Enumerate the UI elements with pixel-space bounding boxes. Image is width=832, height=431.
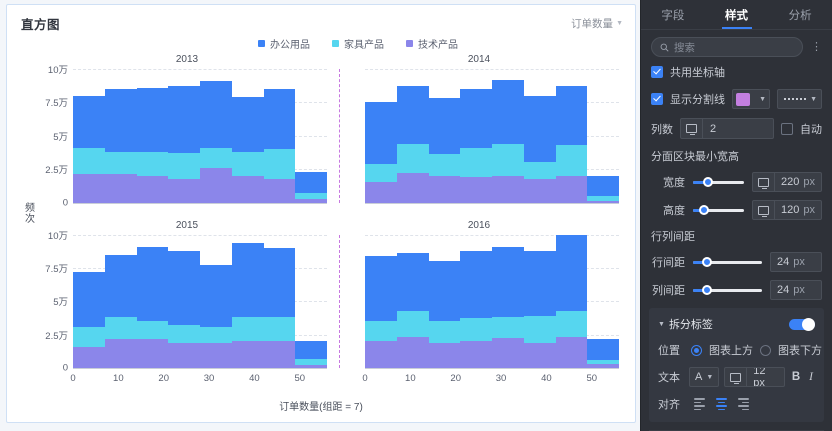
legend-swatch (258, 40, 265, 47)
split-align-label: 对齐 (658, 396, 684, 412)
more-options-icon[interactable]: ⋮ (809, 42, 824, 53)
monitor-icon[interactable] (725, 368, 747, 386)
bar[interactable] (524, 69, 556, 203)
search-placeholder: 搜索 (674, 40, 695, 55)
chevron-down-icon: ▼ (759, 96, 766, 103)
bar[interactable] (168, 69, 200, 203)
bar-segment (105, 89, 137, 152)
gridline-checkbox[interactable] (651, 93, 663, 105)
bar-segment (264, 341, 296, 368)
italic-button[interactable]: I (807, 371, 815, 383)
chart-panel: 直方图 订单数量 ▼ 办公用品家具产品技术产品 频 次 201302.5万5万7… (0, 0, 640, 431)
bar-segment (232, 243, 264, 317)
facet-title: 2013 (41, 53, 333, 67)
facet-height-input[interactable]: 120 px (752, 200, 822, 220)
row-gap-row: 行间距 24 px (651, 252, 822, 272)
y-tick-label: 2.5万 (45, 162, 68, 176)
bar-segment (264, 89, 296, 149)
gridline (73, 203, 327, 204)
y-tick-label: 7.5万 (45, 261, 68, 275)
bar-segment (429, 321, 461, 343)
x-tick-label: 20 (158, 373, 169, 384)
x-tick-label: 40 (541, 373, 552, 384)
bar-segment (397, 144, 429, 173)
y-tick-label: 5万 (53, 129, 68, 143)
facet-2015: 201502.5万5万7.5万10万01020304050 (41, 219, 333, 385)
columns-row: 列数 2 自动 (651, 118, 822, 139)
bar[interactable] (365, 69, 397, 203)
bar-segment (200, 265, 232, 326)
chevron-down-icon: ▼ (810, 96, 817, 103)
shared-axis-label: 共用坐标轴 (670, 64, 725, 80)
bar[interactable] (429, 69, 461, 203)
col-gap-row: 列间距 24 px (651, 280, 822, 300)
bar-segment (397, 311, 429, 338)
bar-segment (168, 343, 200, 368)
bar-segment (492, 176, 524, 202)
facet-height-value: 120 (775, 204, 803, 216)
spacing-heading: 行列间距 (651, 228, 822, 244)
col-gap-slider[interactable] (693, 283, 762, 297)
split-text-row: 文本 A ▼ 12 px B I (658, 367, 815, 387)
bar-segment (429, 154, 461, 177)
split-label-card: ▼ 拆分标签 位置 图表上方 图表下方 文本 A ▼ (649, 308, 824, 422)
radio-below-chart-label: 图表下方 (778, 342, 822, 358)
bar-segment (365, 341, 397, 368)
bar-segment (73, 327, 105, 346)
bar-segment (429, 176, 461, 202)
gridline-color-picker[interactable]: ▼ (732, 89, 770, 109)
chevron-down-icon: ▼ (616, 20, 623, 27)
bar-segment (365, 164, 397, 182)
facet-width-slider[interactable] (693, 175, 744, 189)
facet-divider (339, 235, 340, 369)
radio-above-chart[interactable] (691, 345, 702, 356)
search-icon (660, 43, 669, 52)
bar-segment (397, 337, 429, 368)
bar-segment (460, 318, 492, 341)
bar-segment (397, 86, 429, 143)
facet-min-size-heading: 分面区块最小宽高 (651, 148, 822, 164)
col-gap-input[interactable]: 24 px (770, 280, 822, 300)
gridline (365, 368, 619, 369)
bar[interactable] (556, 69, 588, 203)
x-tick-label: 10 (113, 373, 124, 384)
bar-segment (460, 89, 492, 148)
row-gap-label: 行间距 (651, 254, 685, 270)
bar[interactable] (460, 235, 492, 369)
columns-auto-checkbox[interactable] (781, 123, 793, 135)
bar-segment (556, 86, 588, 145)
x-tick-label: 20 (450, 373, 461, 384)
search-row: 搜索 ⋮ (641, 30, 832, 64)
bar-segment (200, 148, 232, 169)
bar-segment (365, 321, 397, 342)
y-tick-label: 0 (63, 197, 68, 208)
bar-segment (232, 341, 264, 368)
tab-1[interactable]: 样式 (705, 0, 769, 29)
legend-label: 家具产品 (344, 36, 384, 51)
y-axis-label: 频 次 (23, 203, 37, 225)
bar[interactable] (264, 69, 296, 203)
bar[interactable] (429, 235, 461, 369)
bar[interactable] (587, 235, 619, 369)
facet-plot: 02.5万5万7.5万10万 (73, 69, 327, 203)
bar-segment (232, 176, 264, 202)
bar-segment (264, 179, 296, 202)
bar-segment (587, 339, 619, 360)
facet-width-unit: px (803, 176, 821, 188)
bar-segment (168, 86, 200, 153)
font-size-value: 12 px (747, 367, 784, 387)
bar[interactable] (460, 69, 492, 203)
bar-segment (460, 341, 492, 368)
facet-2013: 201302.5万5万7.5万10万 (41, 53, 333, 219)
gridline-row: 显示分割线 ▼ ▼ (651, 89, 822, 109)
color-swatch (736, 93, 750, 106)
bar[interactable] (397, 235, 429, 369)
bar-segment (365, 102, 397, 164)
x-axis-label: 订单数量(组距 = 7) (7, 398, 635, 413)
columns-value: 2 (703, 123, 716, 135)
facet-width-row: 宽度 220 px (651, 172, 822, 192)
split-label-header: ▼ 拆分标签 (658, 316, 815, 332)
bar-segment (524, 316, 556, 343)
facet-title: 2014 (333, 53, 625, 67)
search-input[interactable]: 搜索 (651, 37, 803, 57)
slider-knob[interactable] (702, 257, 712, 267)
facet-2014: 2014 (333, 53, 625, 219)
split-text-label: 文本 (658, 369, 684, 385)
bar[interactable] (556, 235, 588, 369)
bar-segment (73, 96, 105, 148)
legend-label: 办公用品 (270, 36, 310, 51)
x-tick-label: 10 (405, 373, 416, 384)
col-gap-label: 列间距 (651, 282, 685, 298)
app-root: 直方图 订单数量 ▼ 办公用品家具产品技术产品 频 次 201302.5万5万7… (0, 0, 832, 431)
facet-width-value: 220 (775, 176, 803, 188)
bar-segment (137, 152, 169, 176)
y-tick-label: 2.5万 (45, 328, 68, 342)
bar-segment (492, 338, 524, 368)
bar[interactable] (168, 235, 200, 369)
row-gap-input[interactable]: 24 px (770, 252, 822, 272)
bar[interactable] (295, 69, 327, 203)
gridline (365, 203, 619, 204)
facet-title: 2016 (333, 219, 625, 233)
x-tick-label: 40 (249, 373, 260, 384)
bar-segment (460, 177, 492, 202)
facet-title: 2015 (41, 219, 333, 233)
facet-grid: 201302.5万5万7.5万10万2014201502.5万5万7.5万10万… (41, 53, 625, 384)
align-right-icon[interactable] (737, 397, 750, 411)
bar-segment (460, 251, 492, 318)
bar-segment (556, 337, 588, 368)
legend-label: 技术产品 (418, 36, 458, 51)
bar-segment (137, 339, 169, 368)
bar-segment (200, 343, 232, 368)
slider-knob[interactable] (702, 285, 712, 295)
shared-axis-checkbox[interactable] (651, 66, 663, 78)
bar-segment (429, 98, 461, 153)
bar[interactable] (73, 69, 105, 203)
x-tick-label: 50 (586, 373, 597, 384)
bar-segment (105, 339, 137, 368)
measure-picker-label: 订单数量 (571, 16, 613, 31)
align-left-icon[interactable] (693, 397, 706, 411)
radio-above-chart-label: 图表上方 (709, 342, 753, 358)
bar-group (365, 235, 619, 369)
bar-segment (168, 179, 200, 202)
facet-2016: 201601020304050 (333, 219, 625, 385)
columns-auto-label: 自动 (800, 121, 822, 137)
row-gap-slider[interactable] (693, 255, 762, 269)
align-center-icon[interactable] (715, 397, 728, 411)
bar-segment (556, 145, 588, 176)
x-tick-label: 0 (362, 373, 367, 384)
bar-segment (137, 88, 169, 153)
radio-below-chart[interactable] (760, 345, 771, 356)
tab-0[interactable]: 字段 (641, 0, 705, 29)
columns-label: 列数 (651, 121, 673, 137)
facet-width-label: 宽度 (651, 174, 685, 190)
bar-segment (429, 343, 461, 368)
bar[interactable] (105, 235, 137, 369)
bar[interactable] (232, 235, 264, 369)
gridline (73, 368, 327, 369)
bar-segment (295, 341, 327, 359)
bar-segment (73, 272, 105, 327)
bar-segment (105, 152, 137, 174)
bar-group (73, 69, 327, 203)
bar-segment (460, 148, 492, 177)
y-tick-label: 7.5万 (45, 95, 68, 109)
monitor-icon[interactable] (753, 201, 775, 219)
bar-segment (429, 261, 461, 321)
bar-segment (168, 325, 200, 343)
bar-segment (232, 97, 264, 152)
bar-segment (105, 255, 137, 317)
chevron-down-icon[interactable]: ▼ (658, 321, 665, 328)
col-gap-unit: px (793, 284, 811, 296)
bar-segment (137, 321, 169, 339)
bar-segment (365, 256, 397, 321)
bar[interactable] (264, 235, 296, 369)
gridline-style-picker[interactable]: ▼ (777, 89, 822, 109)
measure-picker[interactable]: 订单数量 ▼ (571, 16, 623, 31)
bar-segment (492, 80, 524, 144)
col-gap-value: 24 (771, 284, 793, 296)
monitor-icon[interactable] (681, 119, 703, 138)
slider-knob[interactable] (699, 205, 709, 215)
facet-height-slider[interactable] (693, 203, 744, 217)
bar-segment (295, 365, 327, 368)
x-tick-label: 50 (294, 373, 305, 384)
split-position-row: 位置 图表上方 图表下方 (658, 342, 815, 358)
bar-segment (200, 327, 232, 344)
bar-segment (397, 253, 429, 310)
facet-plot: 01020304050 (365, 235, 619, 369)
bar-segment (524, 96, 556, 163)
bar[interactable] (73, 235, 105, 369)
bar-segment (200, 81, 232, 148)
bar[interactable] (524, 235, 556, 369)
bar[interactable] (295, 235, 327, 369)
bar-segment (295, 199, 327, 202)
bar[interactable] (200, 235, 232, 369)
shared-axis-row[interactable]: 共用坐标轴 (651, 64, 822, 80)
bar-segment (587, 364, 619, 368)
panel-tabs: 字段样式分析 (641, 0, 832, 30)
settings-panel: 字段样式分析 搜索 ⋮ 共用坐标轴 显示分割线 ▼ (640, 0, 832, 431)
split-label-toggle[interactable] (789, 319, 815, 330)
bar-segment (295, 172, 327, 193)
bar-segment (524, 179, 556, 202)
bar-segment (524, 343, 556, 368)
facet-height-unit: px (803, 204, 821, 216)
bar[interactable] (492, 235, 524, 369)
bar-segment (264, 149, 296, 179)
x-tick-label: 0 (70, 373, 75, 384)
bar-group (73, 235, 327, 369)
bar-segment (524, 251, 556, 316)
bar-segment (200, 168, 232, 202)
font-glyph: A (695, 371, 702, 383)
slider-knob[interactable] (703, 177, 713, 187)
bar-segment (397, 173, 429, 202)
font-size-input[interactable]: 12 px (724, 367, 785, 387)
bar-segment (73, 347, 105, 368)
columns-input[interactable]: 2 (680, 118, 774, 139)
y-tick-label: 0 (63, 363, 68, 374)
bar-segment (137, 247, 169, 322)
split-label-title: 拆分标签 (669, 316, 713, 332)
bar-segment (556, 176, 588, 203)
row-gap-unit: px (793, 256, 811, 268)
bar-segment (492, 247, 524, 317)
page-title: 直方图 (21, 14, 60, 33)
bar-segment (168, 251, 200, 326)
legend-item-2[interactable]: 技术产品 (406, 36, 458, 51)
legend-swatch (406, 40, 413, 47)
bar-segment (556, 235, 588, 311)
split-position-label: 位置 (658, 342, 684, 358)
facet-plot: 02.5万5万7.5万10万01020304050 (73, 235, 327, 369)
bar-segment (556, 311, 588, 337)
bar-segment (105, 317, 137, 340)
bar-segment (232, 317, 264, 342)
split-align-row: 对齐 (658, 396, 815, 412)
dash-preview-icon (784, 98, 806, 100)
bar[interactable] (137, 69, 169, 203)
tab-2[interactable]: 分析 (768, 0, 832, 29)
bar[interactable] (587, 69, 619, 203)
bar-segment (73, 148, 105, 174)
facet-width-input[interactable]: 220 px (752, 172, 822, 192)
bar-segment (232, 152, 264, 176)
y-tick-label: 5万 (53, 294, 68, 308)
facet-divider (339, 69, 340, 203)
bar-segment (524, 162, 556, 179)
bar-segment (492, 144, 524, 177)
x-tick-label: 30 (204, 373, 215, 384)
chart-legend: 办公用品家具产品技术产品 (7, 36, 619, 51)
bar[interactable] (397, 69, 429, 203)
bar[interactable] (105, 69, 137, 203)
facet-plot (365, 69, 619, 203)
legend-item-1[interactable]: 家具产品 (332, 36, 384, 51)
font-family-picker[interactable]: A ▼ (689, 367, 719, 387)
bar[interactable] (492, 69, 524, 203)
facet-height-row: 高度 120 px (651, 200, 822, 220)
bold-button[interactable]: B (790, 371, 802, 383)
bar-segment (587, 176, 619, 195)
plot-area: 201302.5万5万7.5万10万2014201502.5万5万7.5万10万… (41, 53, 625, 384)
bar-segment (587, 201, 619, 203)
bar-segment (492, 317, 524, 338)
bar[interactable] (365, 235, 397, 369)
bar-segment (365, 182, 397, 202)
row-gap-value: 24 (771, 256, 793, 268)
bar-segment (137, 176, 169, 202)
x-tick-label: 30 (496, 373, 507, 384)
legend-swatch (332, 40, 339, 47)
y-tick-label: 10万 (48, 62, 68, 76)
bar[interactable] (232, 69, 264, 203)
chevron-down-icon: ▼ (706, 374, 713, 381)
y-tick-label: 10万 (48, 228, 68, 242)
chart-card: 直方图 订单数量 ▼ 办公用品家具产品技术产品 频 次 201302.5万5万7… (6, 4, 636, 423)
bar-segment (264, 248, 296, 317)
bar[interactable] (137, 235, 169, 369)
bar-segment (73, 174, 105, 203)
bar[interactable] (200, 69, 232, 203)
style-options: 共用坐标轴 显示分割线 ▼ ▼ 列数 2 (641, 64, 832, 300)
monitor-icon[interactable] (753, 173, 775, 191)
facet-height-label: 高度 (651, 202, 685, 218)
bar-segment (105, 174, 137, 202)
bar-segment (264, 317, 296, 340)
bar-group (365, 69, 619, 203)
legend-item-0[interactable]: 办公用品 (258, 36, 310, 51)
bar-segment (168, 153, 200, 179)
gridline-label: 显示分割线 (670, 91, 725, 107)
